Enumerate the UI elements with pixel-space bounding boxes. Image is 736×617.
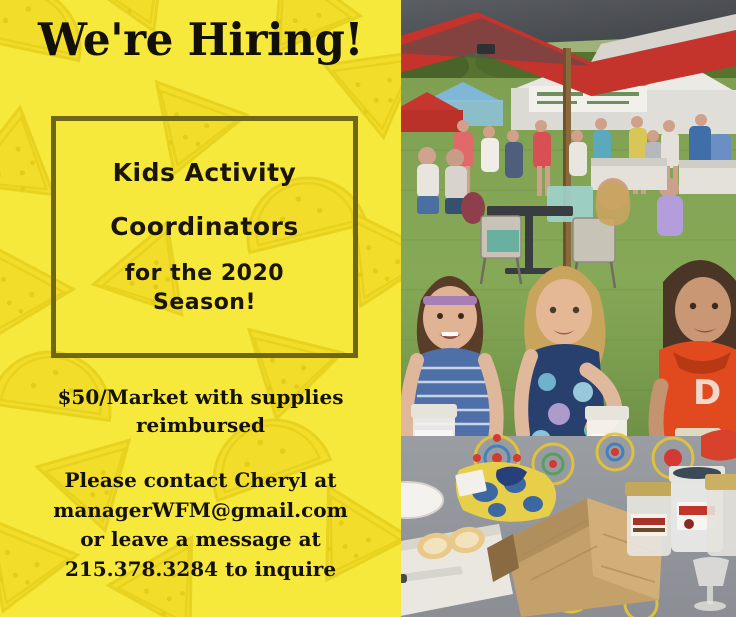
callout-line-role-2: Coordinators xyxy=(110,214,299,240)
contact-line-1: Please contact Cheryl at xyxy=(18,466,383,496)
callout-line-season-1: for the 2020 xyxy=(125,262,284,285)
market-table xyxy=(401,430,736,617)
callout-line-role-1: Kids Activity xyxy=(113,160,297,186)
flyer-text-panel: We're Hiring! Kids Activity Coordinators… xyxy=(0,0,401,617)
callout-box: Kids Activity Coordinators for the 2020 … xyxy=(51,116,358,358)
photo-illustration: D xyxy=(401,0,736,617)
pay-line-1: $50/Market with supplies xyxy=(18,383,383,411)
hiring-flyer: We're Hiring! Kids Activity Coordinators… xyxy=(0,0,736,617)
page-title: We're Hiring! xyxy=(6,17,395,62)
farmers-market-photo: D xyxy=(401,0,736,617)
contact-line-3: or leave a message at xyxy=(18,525,383,555)
contact-details: Please contact Cheryl at managerWFM@gmai… xyxy=(18,466,383,584)
callout-line-season-2: Season! xyxy=(153,291,256,314)
contact-phone[interactable]: 215.378.3284 to inquire xyxy=(18,555,383,585)
contact-email[interactable]: managerWFM@gmail.com xyxy=(18,496,383,526)
svg-text:D: D xyxy=(693,373,721,413)
pay-details: $50/Market with supplies reimbursed xyxy=(18,383,383,440)
pay-line-2: reimbursed xyxy=(18,411,383,439)
